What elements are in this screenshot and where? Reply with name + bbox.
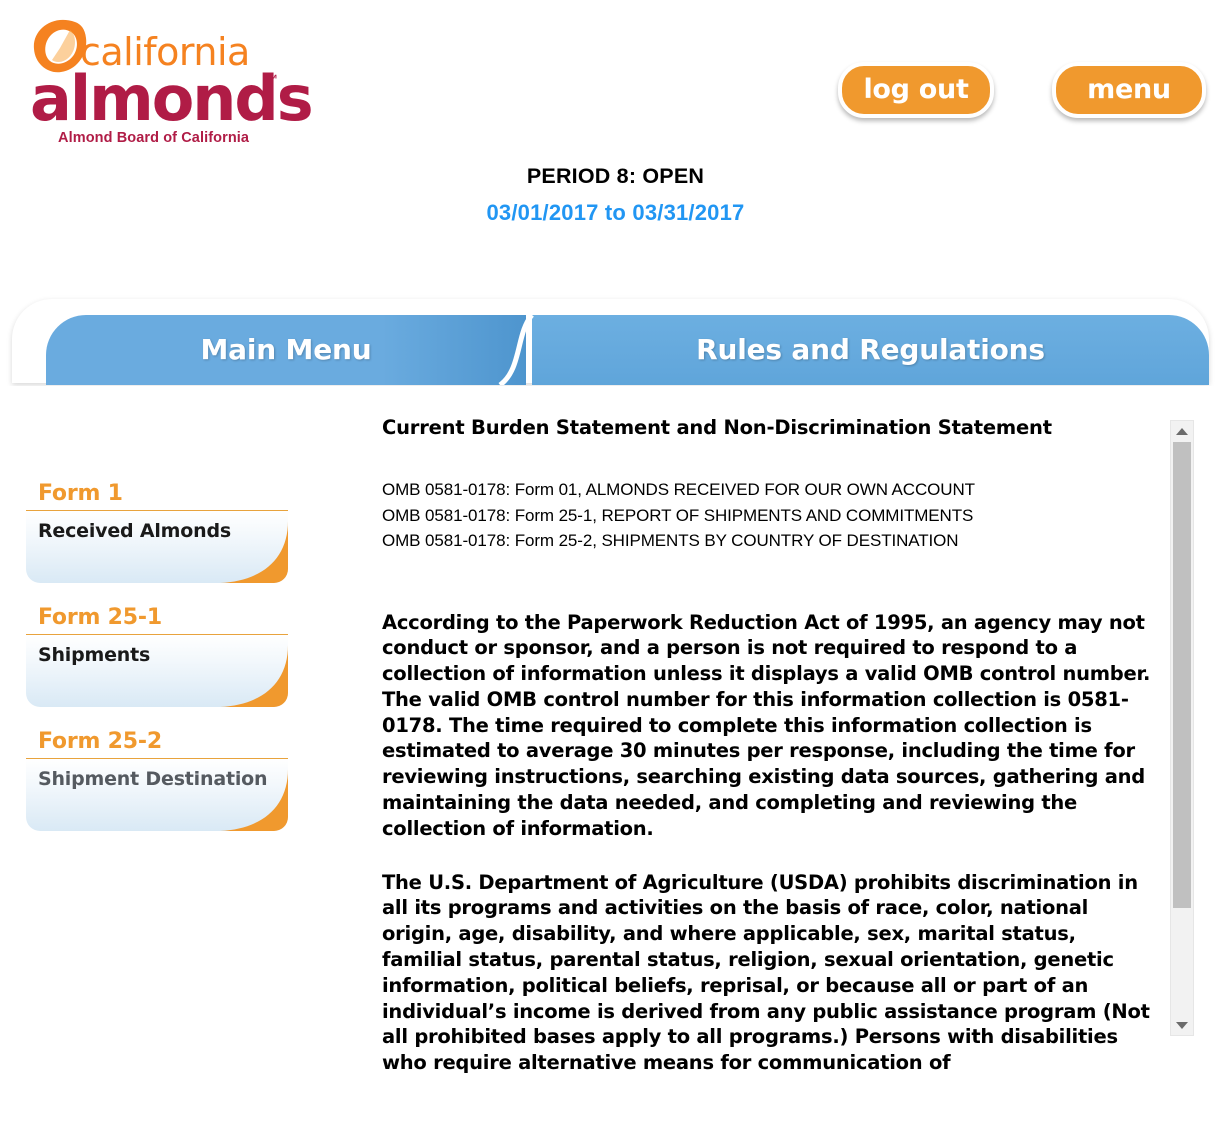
content-scrollbar[interactable] bbox=[1170, 420, 1194, 1036]
period-status: PERIOD 8: OPEN bbox=[0, 163, 1231, 189]
triangle-up-icon bbox=[1176, 428, 1188, 435]
page-header: california almonds ™ Almond Board of Cal… bbox=[0, 0, 1231, 150]
logo-trademark: ™ bbox=[266, 72, 278, 86]
sidebar-card-form-25-1[interactable]: Form 25-1 Shipments bbox=[26, 605, 288, 707]
tab-rules-and-regulations-label: Rules and Regulations bbox=[532, 333, 1209, 366]
main-panel: Form 1 Received Almonds Form 25-1 Shipme… bbox=[0, 386, 1231, 1086]
sidebar-card-form-25-2-body: Shipment Destination bbox=[26, 758, 288, 831]
burden-statement-content: Current Burden Statement and Non-Discrim… bbox=[382, 416, 1152, 1076]
corner-swoosh-icon bbox=[192, 769, 288, 831]
tab-list: Main Menu Rules and Regulations bbox=[4, 315, 1217, 385]
sidebar-card-form-1-body: Received Almonds bbox=[26, 510, 288, 583]
sidebar-card-form-25-2[interactable]: Form 25-2 Shipment Destination bbox=[26, 729, 288, 831]
tab-bar: Main Menu Rules and Regulations bbox=[4, 299, 1217, 385]
sidebar-card-form-25-1-subtitle: Shipments bbox=[38, 644, 150, 666]
corner-swoosh-icon bbox=[192, 645, 288, 707]
menu-button[interactable]: menu bbox=[1052, 62, 1206, 118]
period-date-range: 03/01/2017 to 03/31/2017 bbox=[0, 200, 1231, 226]
tab-main-menu-label: Main Menu bbox=[46, 333, 526, 366]
tab-main-menu[interactable]: Main Menu bbox=[46, 315, 526, 385]
scrollbar-thumb[interactable] bbox=[1173, 442, 1191, 908]
omb-line: OMB 0581-0178: Form 25-1, REPORT OF SHIP… bbox=[382, 503, 1152, 529]
header-actions: log out menu bbox=[830, 62, 1220, 124]
triangle-down-icon bbox=[1176, 1022, 1188, 1029]
scroll-down-button[interactable] bbox=[1171, 1016, 1193, 1034]
forms-sidebar: Form 1 Received Almonds Form 25-1 Shipme… bbox=[26, 481, 288, 853]
sidebar-card-form-1-title: Form 1 bbox=[26, 481, 288, 510]
log-out-button[interactable]: log out bbox=[838, 62, 994, 118]
content-heading: Current Burden Statement and Non-Discrim… bbox=[382, 416, 1152, 439]
sidebar-card-form-1[interactable]: Form 1 Received Almonds bbox=[26, 481, 288, 583]
omb-line: OMB 0581-0178: Form 01, ALMONDS RECEIVED… bbox=[382, 477, 1152, 503]
logo-tagline: Almond Board of California bbox=[58, 130, 249, 146]
paragraph-usda-non-discrimination: The U.S. Department of Agriculture (USDA… bbox=[382, 870, 1152, 1076]
omb-line: OMB 0581-0178: Form 25-2, SHIPMENTS BY C… bbox=[382, 528, 1152, 554]
omb-form-list: OMB 0581-0178: Form 01, ALMONDS RECEIVED… bbox=[382, 477, 1152, 554]
corner-swoosh-icon bbox=[192, 521, 288, 583]
brand-logo[interactable]: california almonds ™ Almond Board of Cal… bbox=[18, 14, 288, 139]
scroll-up-button[interactable] bbox=[1171, 422, 1193, 440]
sidebar-card-form-25-1-title: Form 25-1 bbox=[26, 605, 288, 634]
sidebar-card-form-25-1-body: Shipments bbox=[26, 634, 288, 707]
period-banner: PERIOD 8: OPEN 03/01/2017 to 03/31/2017 bbox=[0, 163, 1231, 226]
sidebar-card-form-25-2-title: Form 25-2 bbox=[26, 729, 288, 758]
tab-rules-and-regulations[interactable]: Rules and Regulations bbox=[532, 315, 1209, 385]
paragraph-paperwork-reduction-act: According to the Paperwork Reduction Act… bbox=[382, 610, 1152, 842]
